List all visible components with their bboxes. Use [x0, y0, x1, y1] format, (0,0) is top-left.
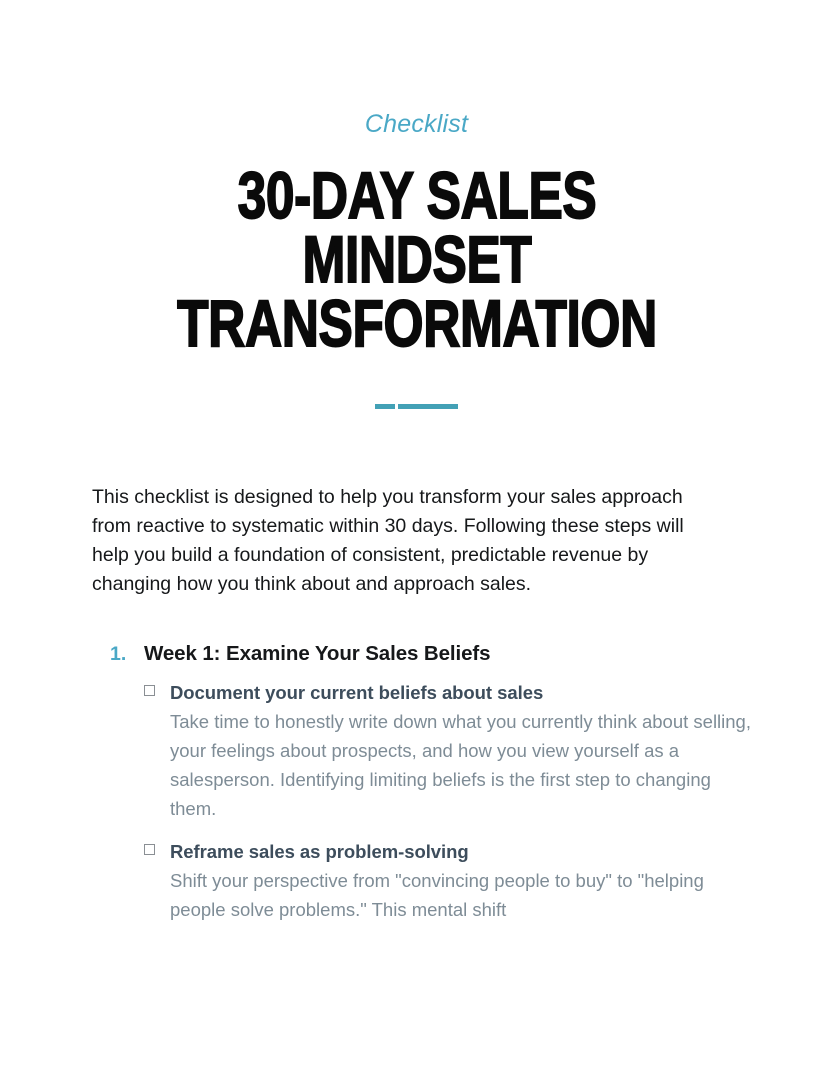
page-title: 30-Day Sales Mindset Transformation [175, 163, 659, 355]
divider-segment-left [375, 404, 395, 409]
checklist-item-description: Take time to honestly write down what yo… [170, 707, 755, 823]
document-page: Checklist 30-Day Sales Mindset Transform… [0, 0, 833, 1081]
checklist-item: Reframe sales as problem-solving Shift y… [144, 839, 833, 924]
section-title: Week 1: Examine Your Sales Beliefs [144, 641, 490, 667]
checkbox-icon[interactable] [144, 839, 170, 855]
checklist-item-description: Shift your perspective from "convincing … [170, 866, 755, 924]
divider-segment-right [398, 404, 458, 409]
section-heading: 1. Week 1: Examine Your Sales Beliefs [110, 641, 833, 667]
document-header: Checklist 30-Day Sales Mindset Transform… [0, 0, 833, 409]
title-divider [0, 403, 833, 409]
checkbox-icon[interactable] [144, 680, 170, 696]
checklist-items: Document your current beliefs about sale… [144, 680, 833, 924]
checklist-sections: 1. Week 1: Examine Your Sales Beliefs Do… [0, 641, 833, 924]
checklist-item-title: Reframe sales as problem-solving [170, 839, 469, 865]
checkbox-box[interactable] [144, 844, 155, 855]
checklist-item: Document your current beliefs about sale… [144, 680, 833, 823]
checklist-section: 1. Week 1: Examine Your Sales Beliefs Do… [110, 641, 833, 924]
page-title-line-1: 30-Day Sales Mindset [237, 158, 596, 296]
checkbox-box[interactable] [144, 685, 155, 696]
section-number: 1. [110, 641, 144, 667]
page-title-line-2: Transformation [177, 286, 657, 360]
checklist-item-header[interactable]: Reframe sales as problem-solving [144, 839, 833, 865]
checklist-item-header[interactable]: Document your current beliefs about sale… [144, 680, 833, 706]
intro-paragraph: This checklist is designed to help you t… [92, 483, 722, 599]
checklist-item-title: Document your current beliefs about sale… [170, 680, 543, 706]
document-eyebrow: Checklist [0, 112, 833, 137]
